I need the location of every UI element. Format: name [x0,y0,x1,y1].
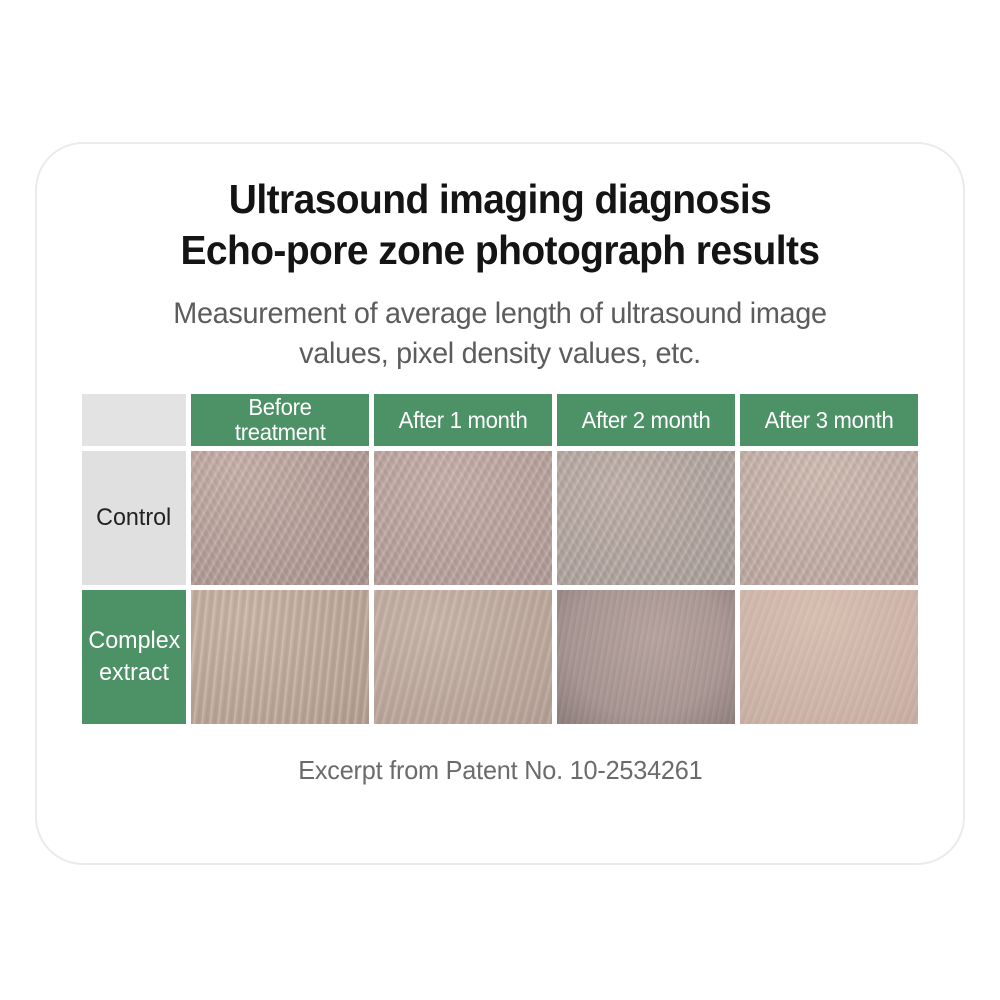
column-header-after-2-month-label: After 2 month [582,408,711,433]
column-header-before-treatment-line2: treatment [235,420,326,445]
column-header-before-treatment-line1: Before [248,395,311,420]
skin-texture [740,451,918,585]
subtitle-line-2: values, pixel density values, etc. [87,334,913,374]
skin-image-control-after-2-month [557,451,735,585]
subtitle-line-1: Measurement of average length of ultraso… [87,294,913,334]
row-label-control: Control [82,451,186,585]
row-label-complex-extract-line1: Complex [88,625,180,657]
skin-image-complex-extract-after-1-month [374,590,552,724]
skin-image-complex-extract-after-3-month [740,590,918,724]
column-header-after-3-month-label: After 3 month [765,408,894,433]
skin-image-complex-extract-after-2-month [557,590,735,724]
page-subtitle: Measurement of average length of ultraso… [70,294,930,374]
row-label-control-text: Control [96,503,171,533]
table-row-complex-extract: Complex extract [82,590,918,724]
column-header-after-1-month: After 1 month [374,394,552,446]
column-header-after-1-month-label: After 1 month [399,408,528,433]
skin-image-control-after-3-month [740,451,918,585]
page-title: Ultrasound imaging diagnosis Echo-pore z… [37,174,963,276]
skin-image-control-after-1-month [374,451,552,585]
column-header-after-3-month: After 3 month [740,394,918,446]
skin-texture [740,590,918,724]
page-root: Ultrasound imaging diagnosis Echo-pore z… [0,0,1000,1000]
skin-texture [191,590,369,724]
skin-texture [557,451,735,585]
source-caption: Excerpt from Patent No. 10-2534261 [37,754,963,786]
skin-image-complex-extract-before-treatment [191,590,369,724]
table-header-row: Before treatment After 1 month After 2 m… [82,394,918,446]
info-card: Ultrasound imaging diagnosis Echo-pore z… [35,142,965,865]
column-header-before-treatment: Before treatment [191,394,369,446]
title-line-1: Ultrasound imaging diagnosis [60,174,940,225]
results-table: Before treatment After 1 month After 2 m… [82,394,918,724]
skin-texture [191,451,369,585]
table-corner-cell [82,394,186,446]
skin-texture [374,451,552,585]
row-label-complex-extract-line2: extract [99,657,169,689]
column-header-after-2-month: After 2 month [557,394,735,446]
skin-texture [374,590,552,724]
skin-image-control-before-treatment [191,451,369,585]
title-line-2: Echo-pore zone photograph results [60,225,940,276]
row-label-complex-extract: Complex extract [82,590,186,724]
skin-texture [557,590,735,724]
table-row-control: Control [82,451,918,585]
source-caption-text: Excerpt from Patent No. 10-2534261 [298,754,702,786]
